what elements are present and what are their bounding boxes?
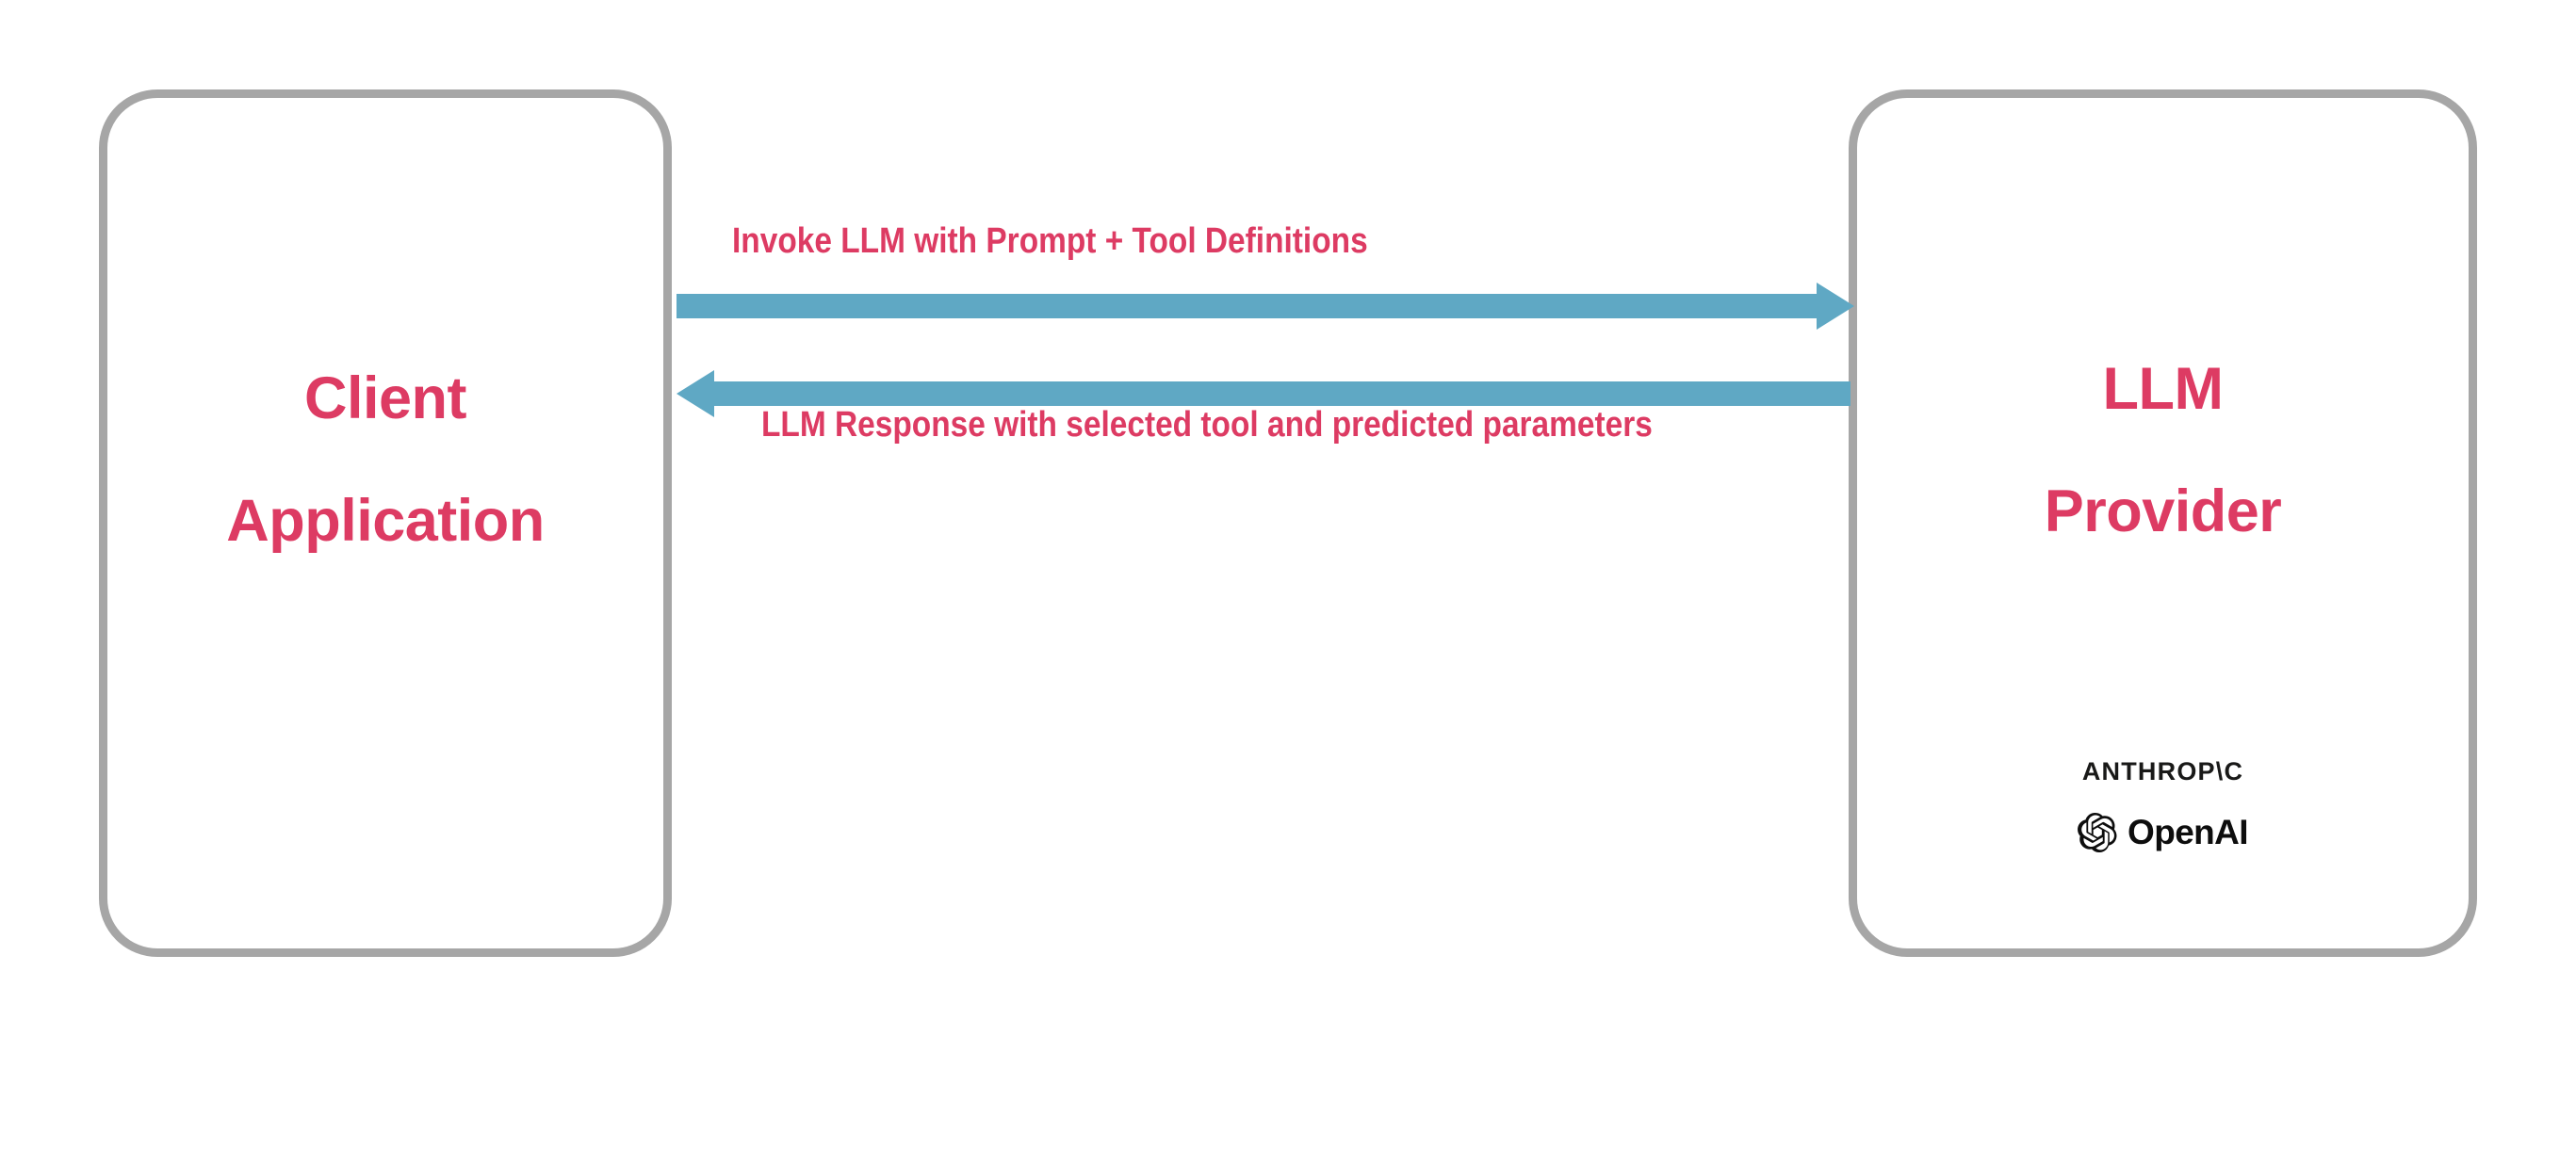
response-arrow-label: LLM Response with selected tool and pred… — [761, 405, 1653, 445]
openai-wordmark: OpenAI — [2128, 813, 2248, 852]
provider-title-line-2: Provider — [2045, 478, 2282, 544]
anthropic-logo: ANTHROP\C — [2082, 757, 2243, 786]
openai-logo: OpenAI — [2078, 813, 2248, 852]
node-llm-provider[interactable]: LLM Provider ANTHROP\C OpenAI — [1849, 89, 2477, 957]
request-arrow — [677, 283, 1854, 330]
node-client-application-label: Client Application — [107, 307, 663, 552]
client-title-line-1: Client — [304, 365, 466, 431]
provider-title-line-1: LLM — [2103, 356, 2224, 422]
node-llm-provider-label: LLM Provider — [1857, 298, 2469, 543]
diagram-canvas: Client Application LLM Provider ANTHROP\… — [0, 0, 2576, 1166]
request-arrow-shape — [677, 283, 1854, 330]
node-client-application[interactable]: Client Application — [99, 89, 672, 957]
client-title-line-2: Application — [226, 488, 545, 554]
request-arrow-label: Invoke LLM with Prompt + Tool Definition… — [732, 221, 1368, 262]
provider-logo-stack: ANTHROP\C OpenAI — [1857, 757, 2469, 852]
openai-mark-icon — [2078, 813, 2117, 852]
